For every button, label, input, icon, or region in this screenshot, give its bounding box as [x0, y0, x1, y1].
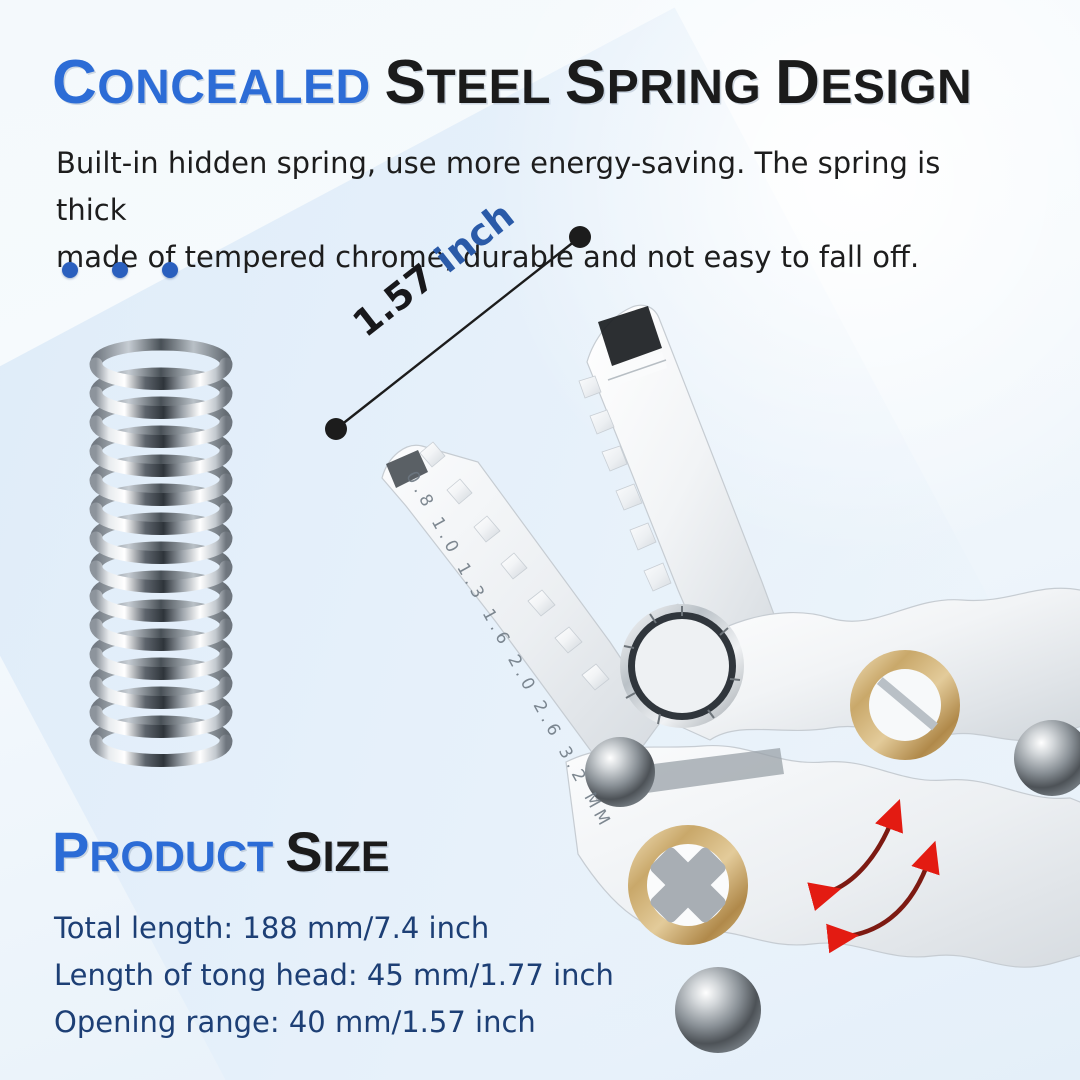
- title-cap-c: C: [52, 48, 97, 117]
- spec-opening-range: Opening range: 40 mm/1.57 inch: [54, 999, 614, 1046]
- dot-icon: [162, 262, 178, 278]
- product-size-specs: Total length: 188 mm/7.4 inch Length of …: [54, 905, 614, 1046]
- decorative-dots: [62, 262, 178, 278]
- title-rest-steel: TEEL: [426, 61, 551, 114]
- pivot-joint: [620, 604, 744, 728]
- size-cap-p: P: [52, 820, 89, 883]
- title-rest-concealed: ONCEALED: [97, 61, 370, 114]
- infographic-page: CONCEALED STEEL SPRING DESIGN Built-in h…: [0, 0, 1080, 1080]
- product-size-heading: PRODUCT SIZE: [52, 824, 390, 880]
- arrow-lower: [842, 857, 930, 937]
- size-cap-s: S: [285, 820, 322, 883]
- ball-bearing: [675, 967, 761, 1053]
- size-rest-product: RODUCT: [89, 833, 273, 881]
- title-cap-s1: S: [384, 48, 426, 117]
- measurement-callout: 1.57 inch: [310, 215, 640, 465]
- title-cap-d: D: [775, 48, 820, 117]
- coil-spring-image: [78, 330, 278, 770]
- title-rest-design: ESIGN: [820, 61, 972, 114]
- dot-icon: [112, 262, 128, 278]
- measure-endpoint-upper: [569, 226, 591, 248]
- dot-icon: [62, 262, 78, 278]
- size-rest-size: IZE: [323, 833, 390, 881]
- brass-ring-slotted: [850, 650, 960, 760]
- coil-spring-svg: [78, 330, 278, 770]
- arrow-upper: [825, 815, 894, 893]
- spec-tong-head: Length of tong head: 45 mm/1.77 inch: [54, 952, 614, 999]
- motion-arrows: [690, 785, 990, 975]
- title-rest-spring: PRING: [607, 61, 762, 114]
- motion-arrows-svg: [690, 785, 990, 975]
- measure-endpoint-lower: [325, 418, 347, 440]
- title-cap-s2: S: [565, 48, 607, 117]
- page-title: CONCEALED STEEL SPRING DESIGN: [52, 52, 1042, 114]
- spec-total-length: Total length: 188 mm/7.4 inch: [54, 905, 614, 952]
